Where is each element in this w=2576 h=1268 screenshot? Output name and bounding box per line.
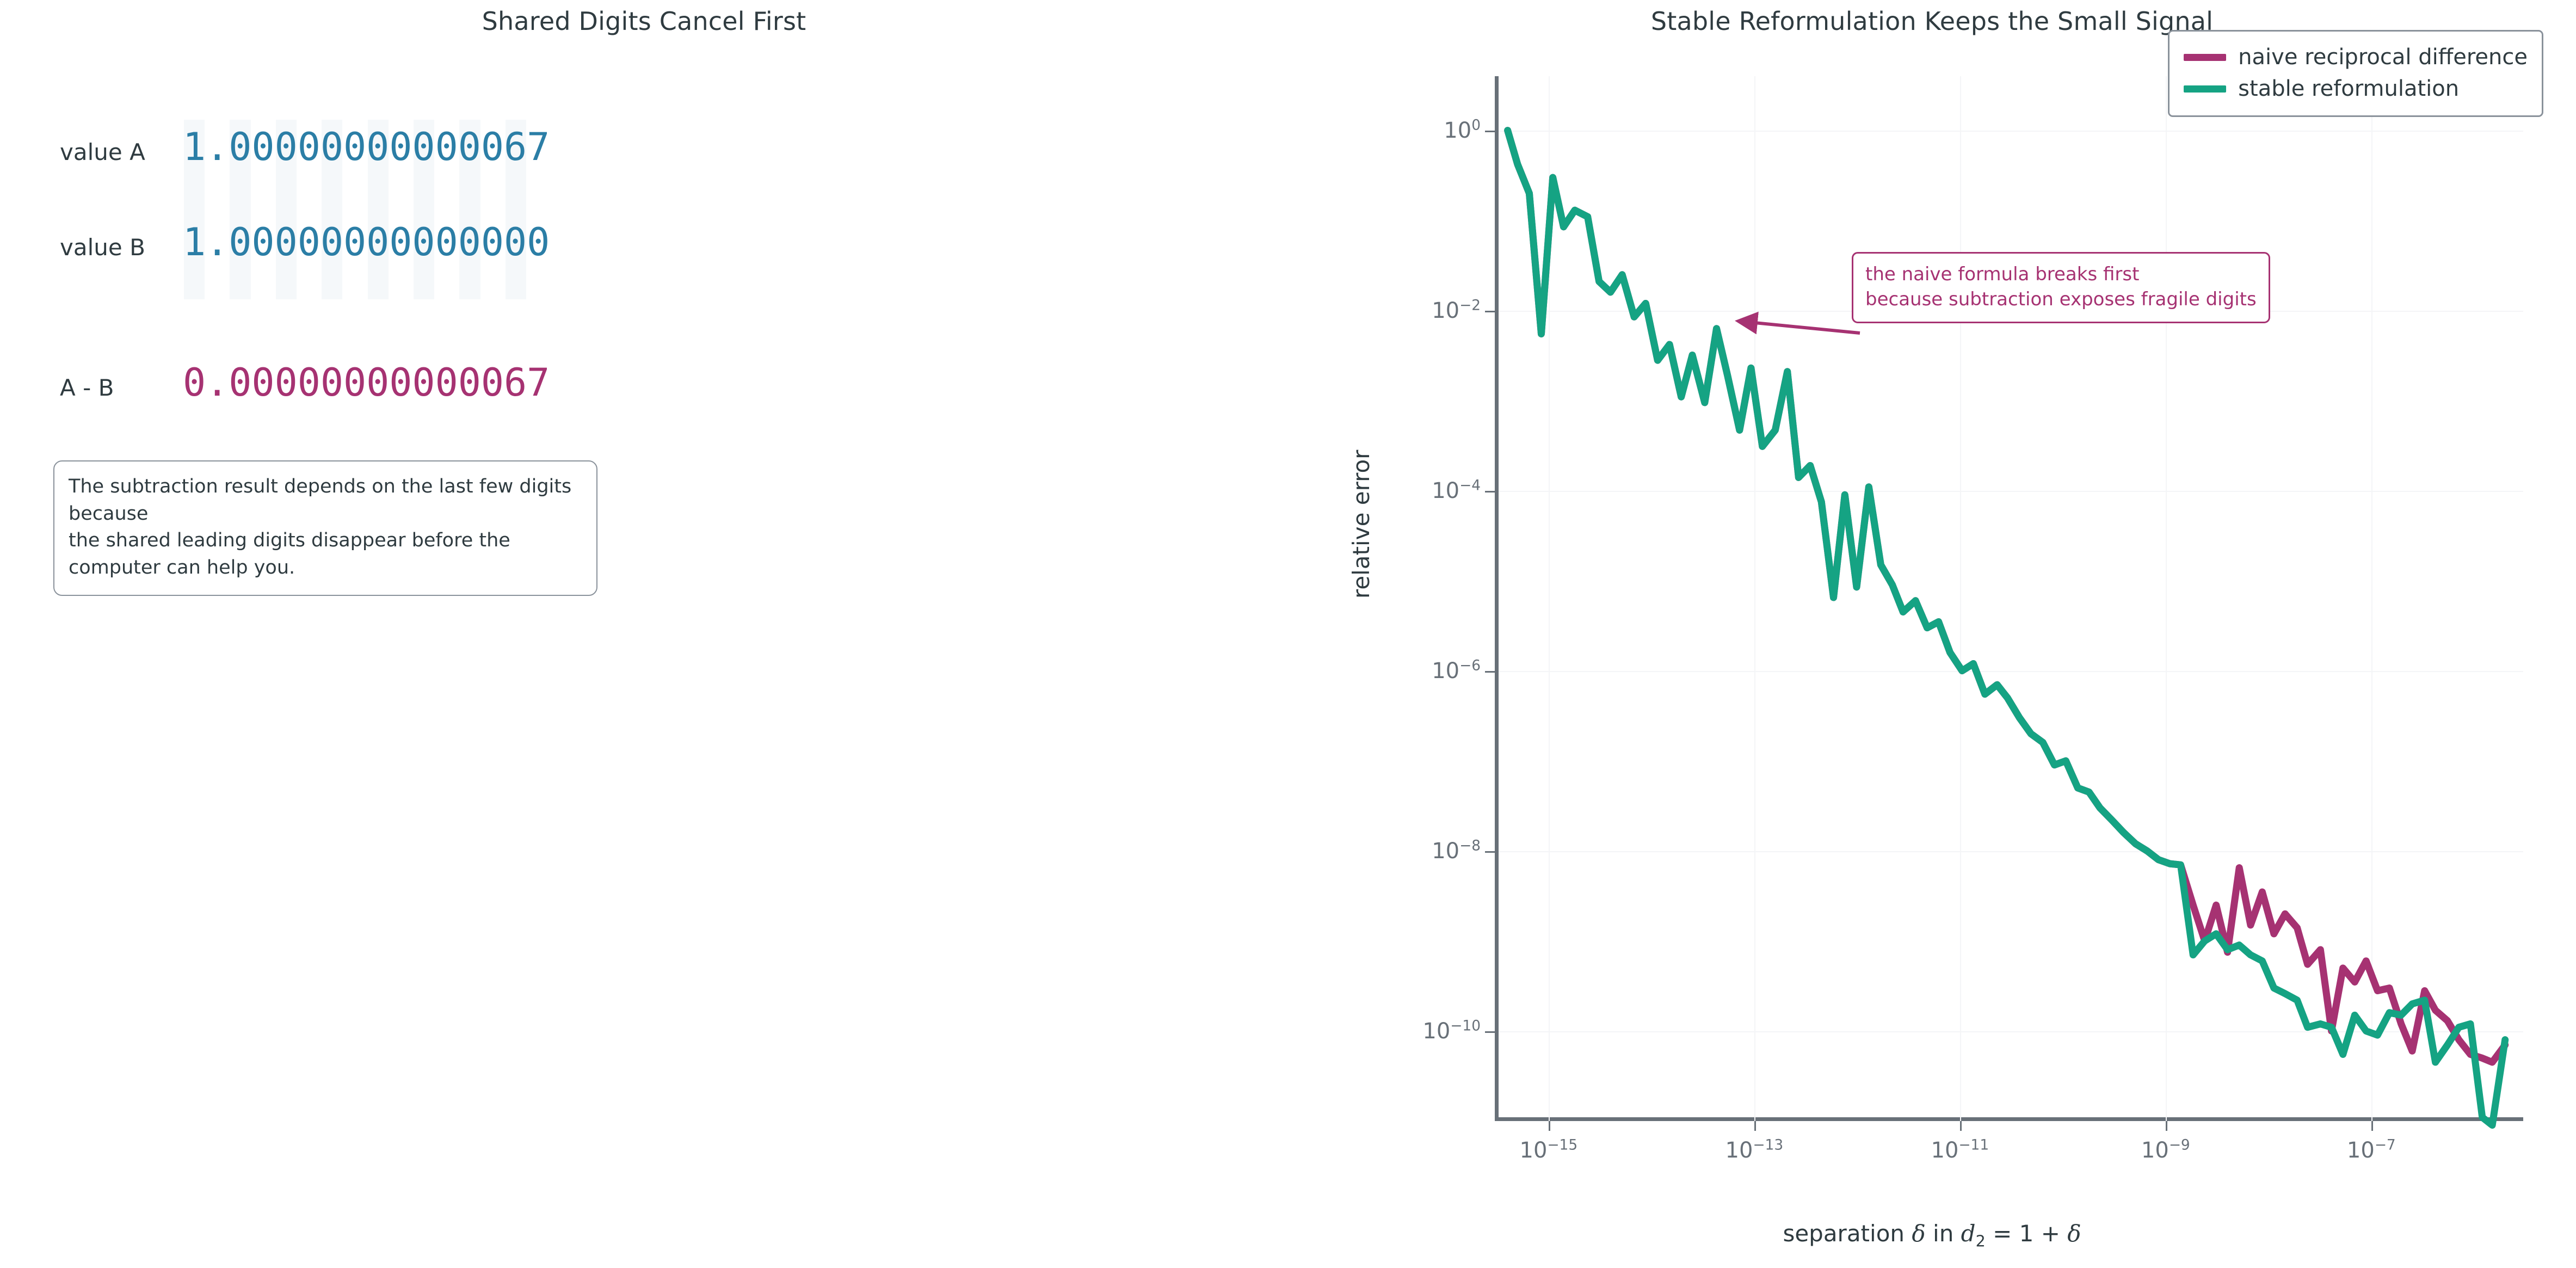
legend-swatch-naive <box>2184 54 2226 61</box>
digit-a-minus-b: 0.00000000000067 <box>183 364 550 402</box>
x-tick-label: 10−13 <box>1725 1140 1784 1161</box>
chart-curves <box>1495 76 2523 1121</box>
legend-swatch-stable <box>2184 85 2226 93</box>
y-tick-mark <box>1485 1031 1495 1033</box>
x-tick-mark <box>2166 1121 2167 1131</box>
y-axis-label: relative error <box>1348 450 1375 599</box>
x-tick-mark <box>1754 1121 1756 1131</box>
x-tick-mark <box>2371 1121 2373 1131</box>
y-tick-mark <box>1485 851 1495 853</box>
annotation-callout: the naive formula breaks first because s… <box>1852 252 2270 323</box>
y-tick-label: 10−2 <box>1432 300 1481 322</box>
legend-label-stable: stable reformulation <box>2238 76 2459 101</box>
x-axis-label: separation δ in d2 = 1 + δ <box>1288 1220 2576 1247</box>
row-label-value-a: value A <box>60 139 145 165</box>
y-tick-label: 100 <box>1444 120 1481 141</box>
y-tick-label: 10−10 <box>1422 1020 1481 1042</box>
row-label-value-b: value B <box>60 234 145 261</box>
row-label-a-minus-b: A - B <box>60 374 114 401</box>
plot-area: 10010−210−410−610−810−1010−1510−1310−111… <box>1495 76 2523 1121</box>
left-panel: Shared Digits Cancel First value A 1.000… <box>0 0 1288 1268</box>
y-tick-label: 10−4 <box>1432 480 1481 502</box>
explanation-caption: The subtraction result depends on the la… <box>53 460 597 596</box>
digit-comparison-stage <box>0 0 1288 1268</box>
x-tick-label: 10−7 <box>2347 1140 2396 1161</box>
y-tick-label: 10−8 <box>1432 840 1481 862</box>
x-tick-label: 10−11 <box>1931 1140 1989 1161</box>
digit-value-b: 1.00000000000000 <box>183 223 550 261</box>
x-tick-mark <box>1960 1121 1962 1131</box>
y-tick-mark <box>1485 671 1495 673</box>
x-tick-label: 10−15 <box>1520 1140 1578 1161</box>
right-panel: Stable Reformulation Keeps the Small Sig… <box>1288 0 2576 1268</box>
legend-label-naive: naive reciprocal difference <box>2238 45 2528 70</box>
y-tick-mark <box>1485 131 1495 132</box>
x-tick-mark <box>1549 1121 1550 1131</box>
x-tick-label: 10−9 <box>2141 1140 2190 1161</box>
y-tick-mark <box>1485 491 1495 493</box>
legend-item-stable[interactable]: stable reformulation <box>2184 73 2528 104</box>
y-tick-label: 10−6 <box>1432 660 1481 682</box>
annotation-arrow-icon <box>1730 305 1861 348</box>
legend-item-naive[interactable]: naive reciprocal difference <box>2184 41 2528 73</box>
y-tick-mark <box>1485 311 1495 312</box>
digit-value-a: 1.00000000000067 <box>183 128 550 166</box>
chart-legend[interactable]: naive reciprocal difference stable refor… <box>2168 30 2543 117</box>
